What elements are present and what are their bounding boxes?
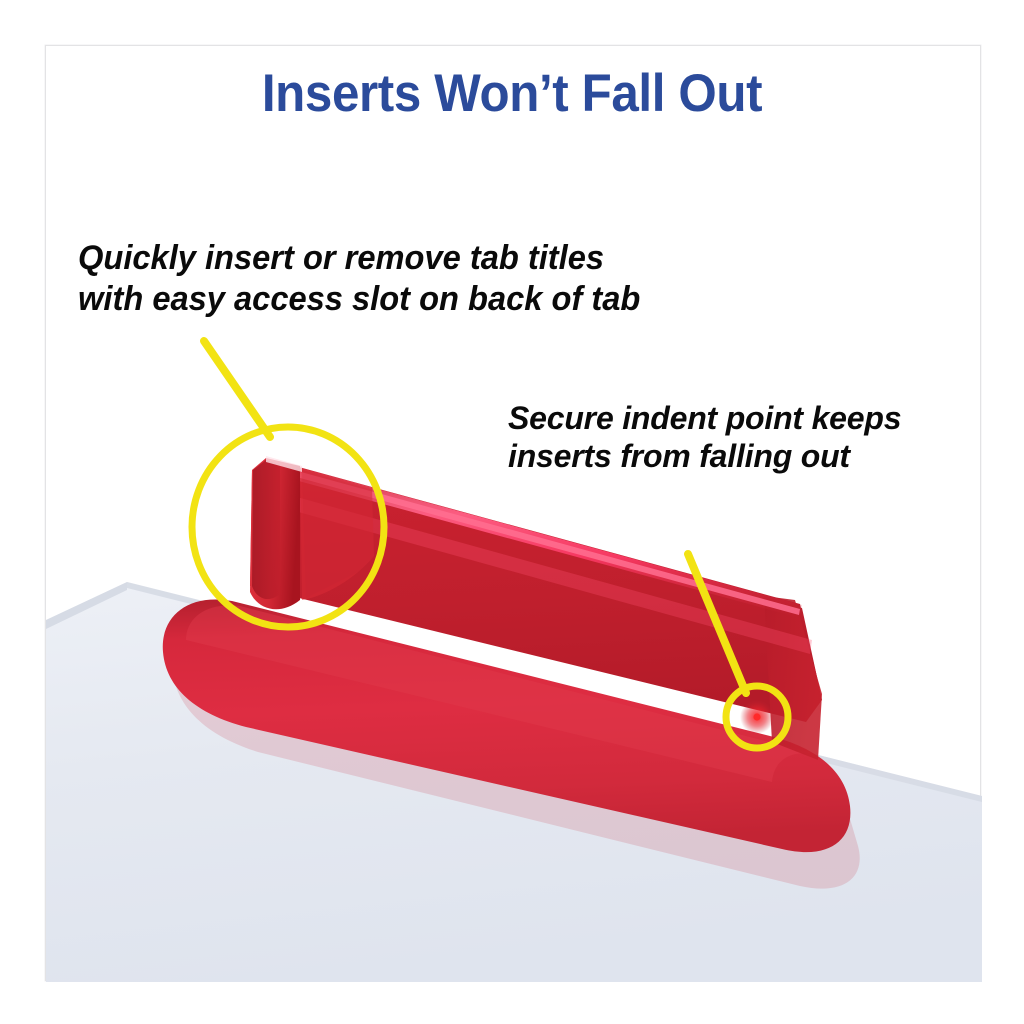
product-photo-artwork [0, 0, 1024, 1024]
product-feature-image: Inserts Won’t Fall Out Quickly insert or… [0, 0, 1024, 1024]
indent-point [753, 713, 760, 720]
page-title: Inserts Won’t Fall Out [36, 66, 988, 122]
callout-text-left: Quickly insert or remove tab titles with… [78, 238, 640, 320]
tab-slot-recess-shadow [252, 460, 280, 599]
callout-text-right: Secure indent point keeps inserts from f… [508, 399, 901, 476]
